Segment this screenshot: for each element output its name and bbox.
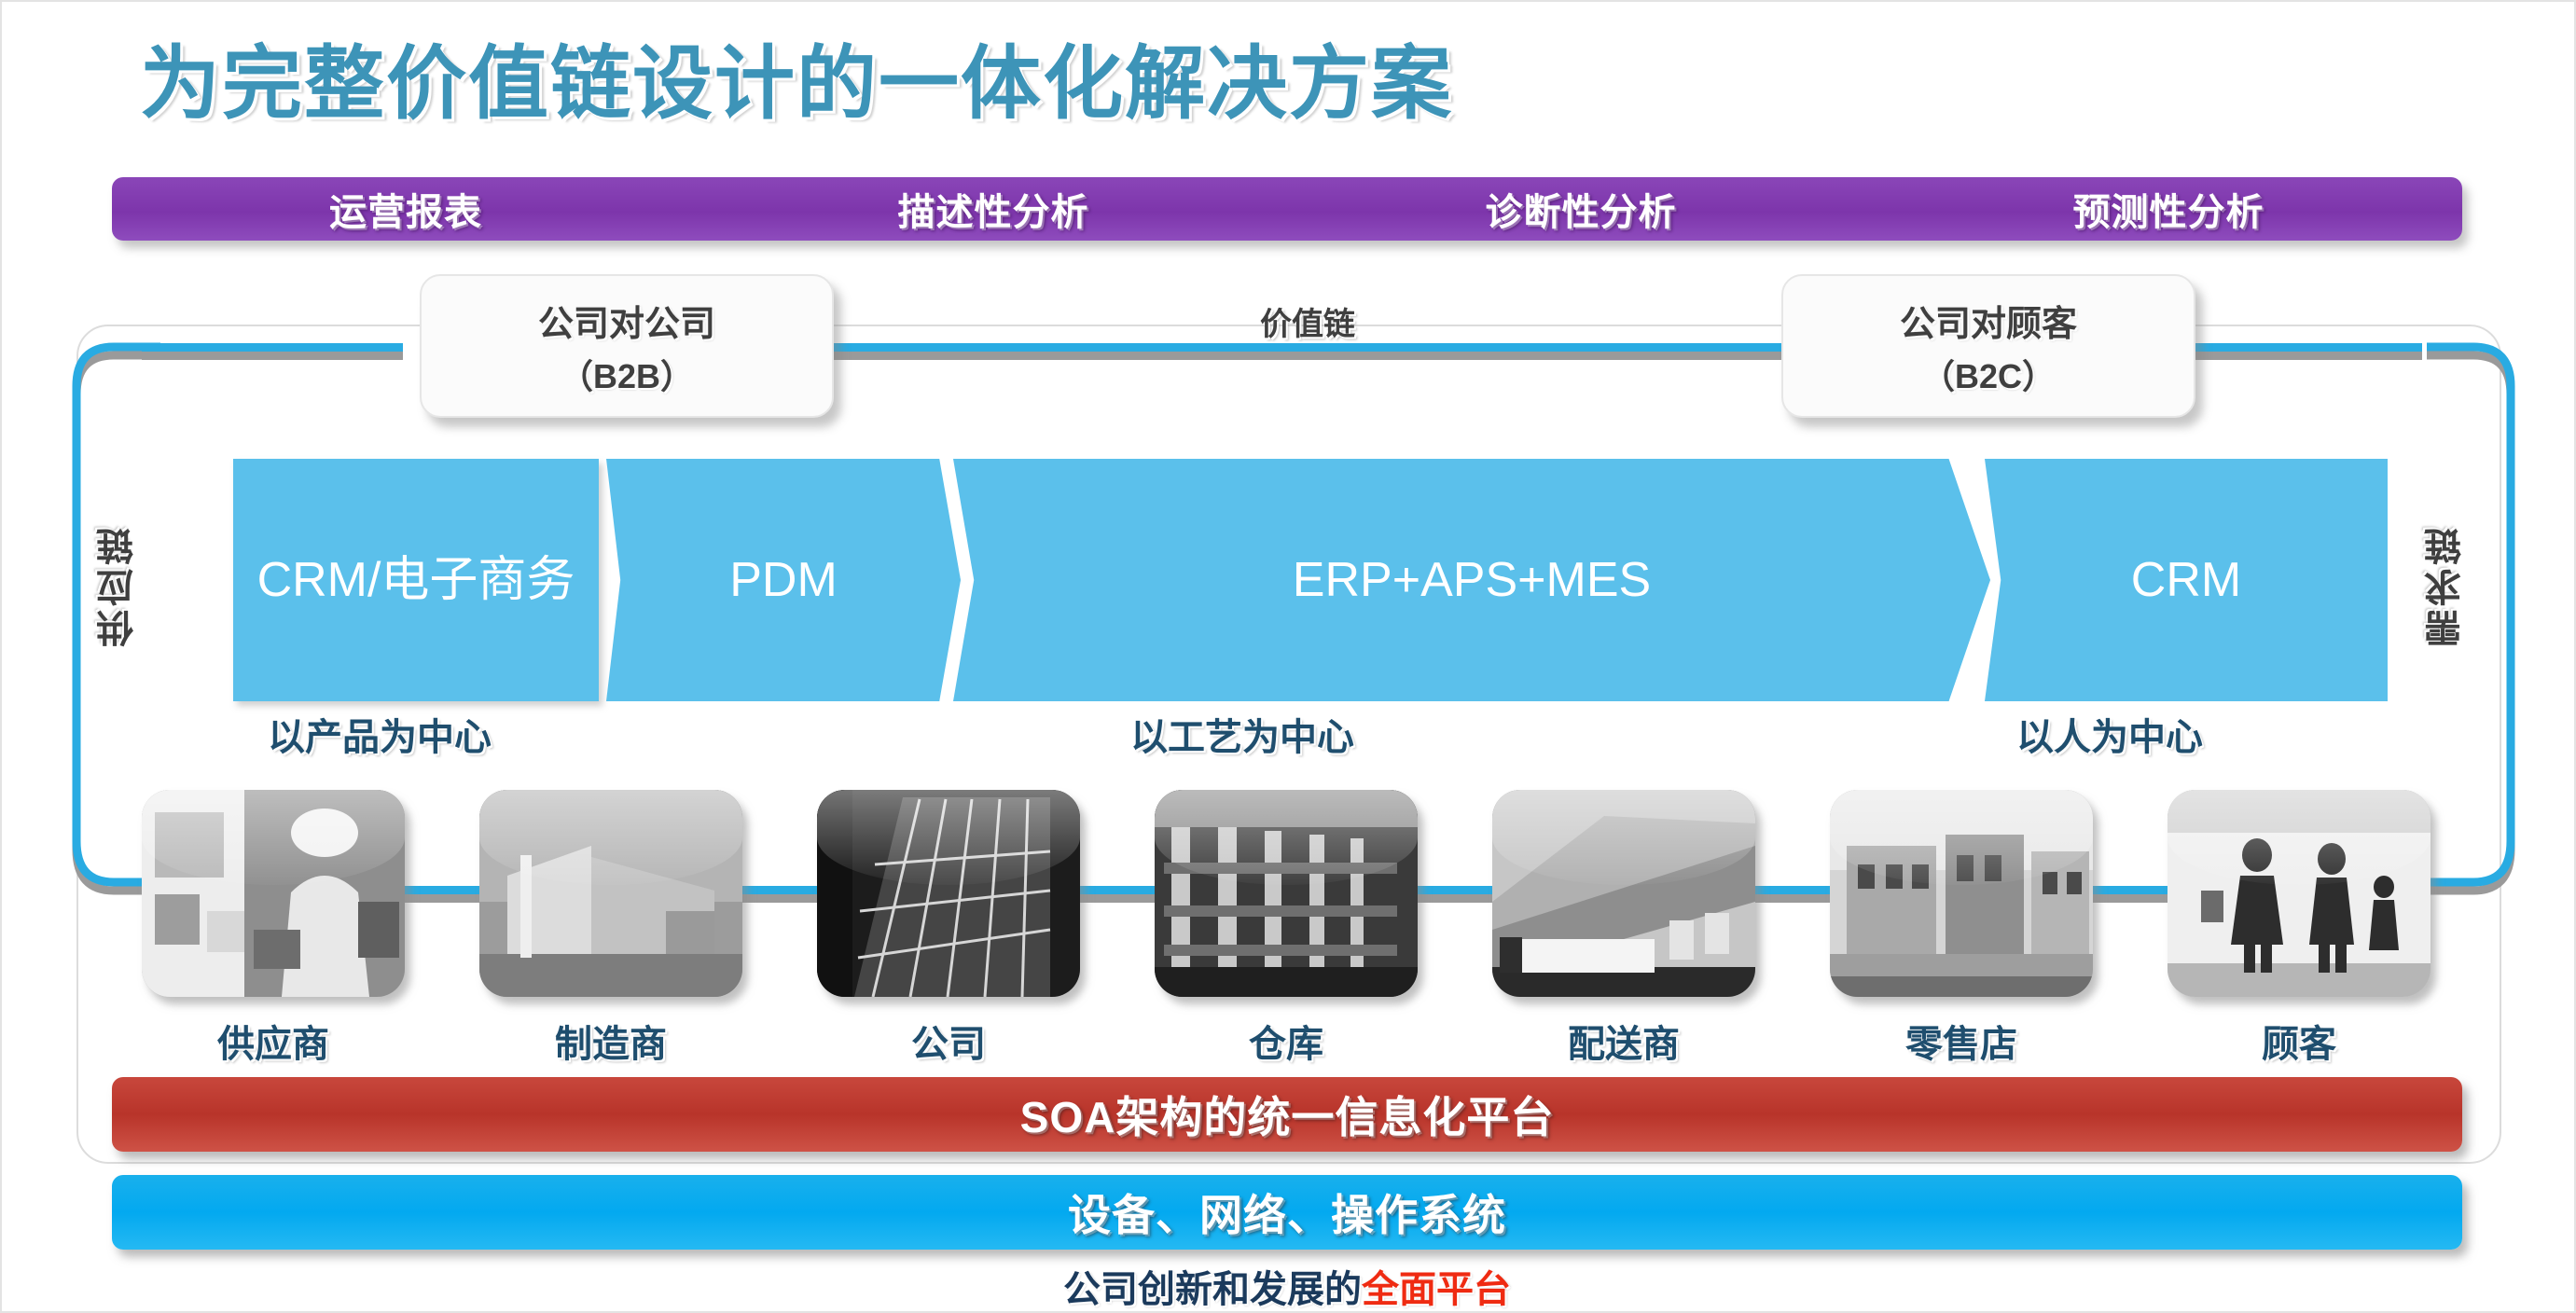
system-block-pdm: PDM <box>606 459 961 701</box>
centric-label-product: 以产品为中心 <box>198 707 561 761</box>
b2b-card-title: 公司对公司 <box>538 295 715 346</box>
page-title: 为完整价值链设计的一体化解决方案 <box>140 37 2005 131</box>
chain-node-label-customer: 顾客 <box>2167 1014 2431 1068</box>
chain-node-label-warehouse: 仓库 <box>1155 1014 1418 1068</box>
footnote-prefix: 公司创新和发展的 <box>1063 1269 1362 1310</box>
chain-node-row: 供应商 制造商 <box>142 790 2436 1000</box>
footnote-highlight: 全面平台 <box>1362 1269 1511 1310</box>
analytics-item-diagnostic: 诊断性分析 <box>1287 182 1875 236</box>
platform-bar-infrastructure: 设备、网络、操作系统 <box>112 1175 2462 1250</box>
system-block-crm: CRM <box>1985 459 2388 701</box>
value-chain-line-left <box>142 343 403 352</box>
chain-node-label-retail-store: 零售店 <box>1830 1014 2093 1068</box>
chain-node-photo-retail-store <box>1830 790 2093 997</box>
analytics-bar: 运营报表 描述性分析 诊断性分析 预测性分析 <box>112 177 2462 241</box>
demand-chain-side-label: 需求链 <box>2419 524 2473 647</box>
analytics-item-predictive: 预测性分析 <box>1875 182 2462 236</box>
chain-node-label-company: 公司 <box>817 1014 1080 1068</box>
centric-label-process: 以工艺为中心 <box>990 707 1494 761</box>
thumb-gloss <box>1830 790 2093 885</box>
b2c-card-title: 公司对顾客 <box>1900 295 2077 346</box>
footnote: 公司创新和发展的全面平台 <box>112 1259 2462 1313</box>
thumb-gloss <box>1492 790 1755 885</box>
chain-node-photo-customer <box>2167 790 2431 997</box>
b2b-card-subtitle: （B2B） <box>560 350 694 398</box>
chain-node-label-manufacturer: 制造商 <box>479 1014 742 1068</box>
chain-node-label-distributor: 配送商 <box>1492 1014 1755 1068</box>
thumb-gloss <box>2167 790 2431 885</box>
value-chain-line-right <box>2194 343 2422 352</box>
analytics-item-operational: 运营报表 <box>112 182 699 236</box>
value-chain-line-center <box>823 343 1797 352</box>
thumb-gloss <box>817 790 1080 885</box>
analytics-item-descriptive: 描述性分析 <box>699 182 1287 236</box>
systems-row: CRM/电子商务 PDM ERP+APS+MES CRM <box>233 459 2388 701</box>
chain-node-photo-company <box>817 790 1080 997</box>
b2c-card-subtitle: （B2C） <box>1921 350 2056 398</box>
supply-chain-side-label: 供应链 <box>91 524 145 647</box>
thumb-gloss <box>479 790 742 885</box>
chain-node-photo-warehouse <box>1155 790 1418 997</box>
system-block-crm-ecommerce: CRM/电子商务 <box>233 459 599 701</box>
b2c-card: 公司对顾客 （B2C） <box>1781 274 2195 418</box>
value-chain-label: 价值链 <box>1130 298 1485 344</box>
thumb-gloss <box>1155 790 1418 885</box>
chain-node-label-supplier: 供应商 <box>142 1014 405 1068</box>
platform-bar-soa: SOA架构的统一信息化平台 <box>112 1077 2462 1152</box>
slide-canvas: 为完整价值链设计的一体化解决方案 运营报表 描述性分析 诊断性分析 预测性分析 … <box>0 0 2576 1313</box>
chain-node-photo-distributor <box>1492 790 1755 997</box>
thumb-gloss <box>142 790 405 885</box>
centric-label-people: 以人为中心 <box>1923 707 2296 761</box>
b2b-card: 公司对公司 （B2B） <box>420 274 834 418</box>
chain-node-photo-supplier <box>142 790 405 997</box>
chain-node-photo-manufacturer <box>479 790 742 997</box>
system-block-erp-aps-mes: ERP+APS+MES <box>953 459 1990 701</box>
